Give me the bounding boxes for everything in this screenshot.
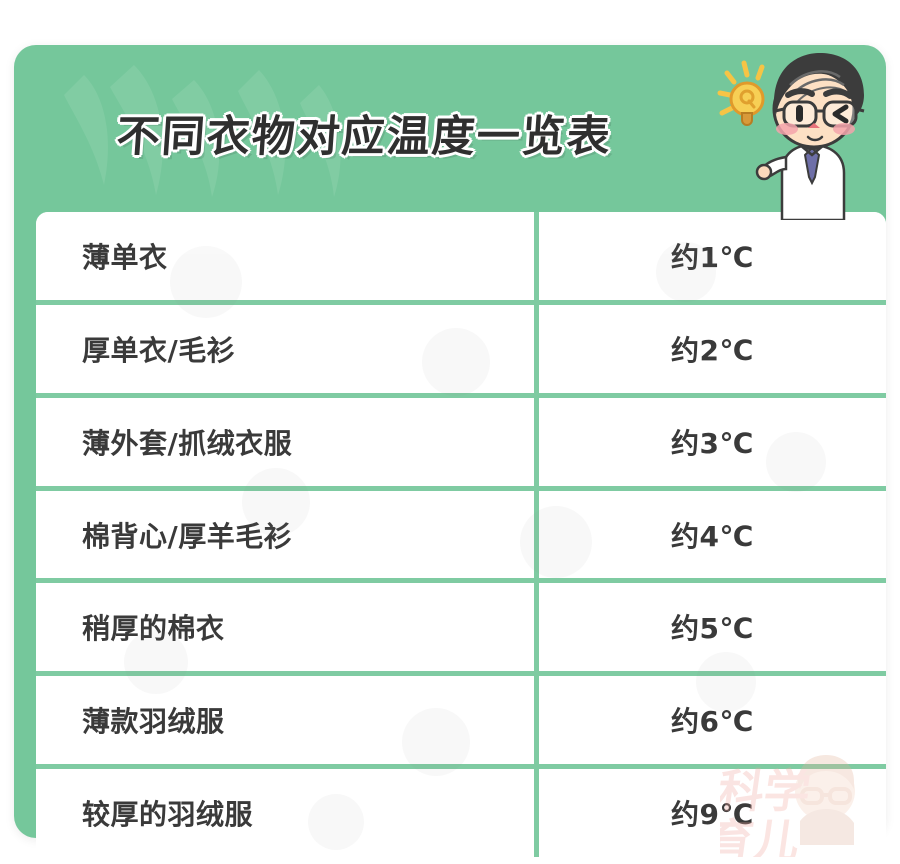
table-row[interactable]: 薄单衣 约1℃ [36, 212, 886, 305]
clothing-item-label: 较厚的羽绒服 [36, 793, 534, 833]
green-card: 不同衣物对应温度一览表 [14, 45, 886, 838]
doctor-mascot-icon [694, 45, 884, 220]
temperature-value: 约6℃ [539, 700, 886, 740]
clothing-item-label: 薄外套/抓绒衣服 [36, 422, 534, 462]
table-row[interactable]: 稍厚的棉衣 约5℃ [36, 583, 886, 676]
clothing-item-label: 棉背心/厚羊毛衫 [36, 515, 534, 555]
table-row[interactable]: 棉背心/厚羊毛衫 约4℃ [36, 491, 886, 584]
clothing-item-label: 薄单衣 [36, 236, 534, 276]
clothing-item-label: 薄款羽绒服 [36, 700, 534, 740]
table-row[interactable]: 薄外套/抓绒衣服 约3℃ [36, 398, 886, 491]
temperature-value: 约1℃ [539, 236, 886, 276]
doctor-figure-icon [757, 53, 864, 220]
clothing-temperature-table: 科学 育儿 薄单衣 约1℃ 厚单衣/毛衫 约2℃ 薄外套/抓绒衣服 约3℃ [36, 212, 886, 857]
clothing-item-label: 稍厚的棉衣 [36, 607, 534, 647]
title-wrap: 不同衣物对应温度一览表 [14, 102, 714, 164]
lightbulb-rays-icon [720, 63, 762, 113]
temperature-value: 约2℃ [539, 329, 886, 369]
temperature-value: 约9℃ [539, 793, 886, 833]
table-row[interactable]: 薄款羽绒服 约6℃ [36, 676, 886, 769]
infographic-root: 不同衣物对应温度一览表 [0, 0, 900, 864]
table-row[interactable]: 较厚的羽绒服 约9℃ [36, 769, 886, 857]
table-row[interactable]: 厚单衣/毛衫 约2℃ [36, 305, 886, 398]
temperature-value: 约5℃ [539, 607, 886, 647]
clothing-item-label: 厚单衣/毛衫 [36, 329, 534, 369]
page-title: 不同衣物对应温度一览表 [114, 102, 613, 164]
temperature-value: 约4℃ [539, 515, 886, 555]
temperature-value: 约3℃ [539, 422, 886, 462]
lightbulb-icon [731, 83, 763, 125]
